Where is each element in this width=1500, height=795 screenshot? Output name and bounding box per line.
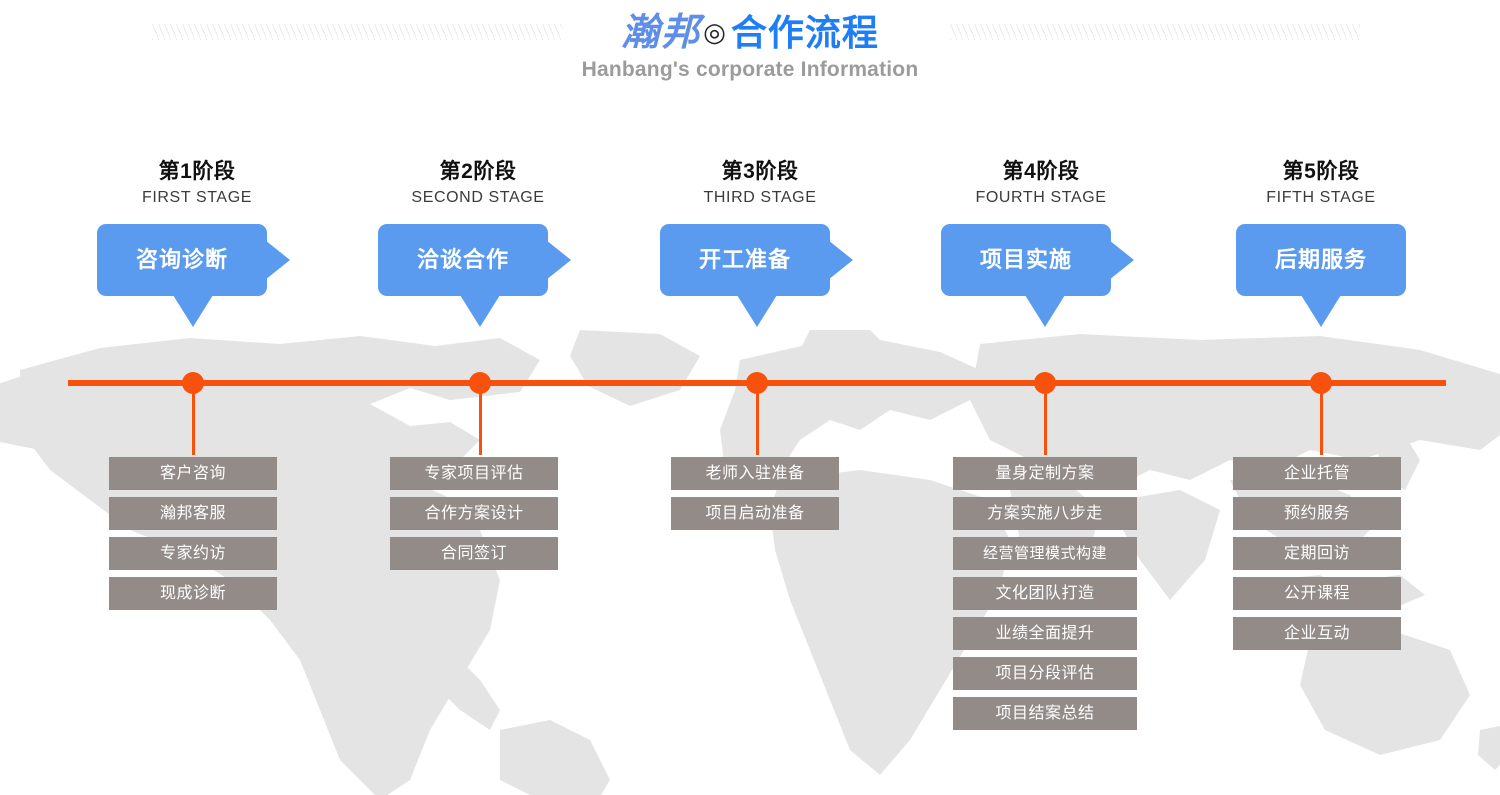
- stage-bubble-4[interactable]: 项目实施: [941, 224, 1111, 296]
- stage-bubble-label-3: 开工准备: [660, 224, 830, 296]
- stage-title-en-1: FIRST STAGE: [72, 186, 322, 210]
- stage-title-cn-2: 第2阶段: [353, 158, 603, 186]
- list-item[interactable]: 瀚邦客服: [109, 497, 277, 530]
- page-title-text: 合作流程: [731, 12, 879, 53]
- stage-bubble-label-5: 后期服务: [1236, 224, 1406, 296]
- bubble-tail-icon-2: [460, 295, 500, 327]
- list-item[interactable]: 合同签订: [390, 537, 558, 570]
- bubble-arrow-icon-3: [828, 240, 853, 280]
- brand-logo-icon: ◎: [703, 17, 727, 47]
- list-item[interactable]: 企业互动: [1233, 617, 1401, 650]
- stage-title-en-4: FOURTH STAGE: [916, 186, 1166, 210]
- bubble-tail-icon-3: [737, 295, 777, 327]
- page-subtitle: Hanbang's corporate Information: [0, 58, 1500, 82]
- list-item[interactable]: 老师入驻准备: [671, 457, 839, 490]
- list-item[interactable]: 企业托管: [1233, 457, 1401, 490]
- stage-title-en-3: THIRD STAGE: [635, 186, 885, 210]
- stage-bubble-label-2: 洽谈合作: [378, 224, 548, 296]
- stage-column-3: 第3阶段 THIRD STAGE 开工准备: [635, 158, 885, 334]
- bubble-arrow-icon-1: [265, 240, 290, 280]
- stage-column-1: 第1阶段 FIRST STAGE 咨询诊断: [72, 158, 322, 334]
- stage-title-en-2: SECOND STAGE: [353, 186, 603, 210]
- page-header: 瀚邦◎合作流程 Hanbang's corporate Information: [0, 8, 1500, 82]
- stage-title-cn-5: 第5阶段: [1196, 158, 1446, 186]
- list-item[interactable]: 方案实施八步走: [953, 497, 1137, 530]
- bubble-arrow-icon-4: [1109, 240, 1134, 280]
- list-item[interactable]: 公开课程: [1233, 577, 1401, 610]
- timeline-node-5[interactable]: [1310, 372, 1332, 394]
- hatch-decoration-right: [950, 24, 1360, 40]
- bubble-tail-icon-1: [173, 295, 213, 327]
- list-item[interactable]: 现成诊断: [109, 577, 277, 610]
- bubble-arrow-icon-2: [546, 240, 571, 280]
- list-item[interactable]: 项目启动准备: [671, 497, 839, 530]
- timeline-node-4[interactable]: [1034, 372, 1056, 394]
- timeline-node-1[interactable]: [182, 372, 204, 394]
- list-item[interactable]: 量身定制方案: [953, 457, 1137, 490]
- list-item[interactable]: 专家约访: [109, 537, 277, 570]
- list-item[interactable]: 业绩全面提升: [953, 617, 1137, 650]
- stage-item-list-4: 量身定制方案 方案实施八步走 经营管理模式构建 文化团队打造 业绩全面提升 项目…: [953, 457, 1137, 737]
- bubble-holder-3: 开工准备: [635, 224, 885, 334]
- infographic-page: 瀚邦◎合作流程 Hanbang's corporate Information …: [0, 0, 1500, 795]
- stage-title-cn-3: 第3阶段: [635, 158, 885, 186]
- stage-title-cn-4: 第4阶段: [916, 158, 1166, 186]
- stage-item-list-2: 专家项目评估 合作方案设计 合同签订: [390, 457, 558, 577]
- stage-bubble-label-4: 项目实施: [941, 224, 1111, 296]
- list-item[interactable]: 预约服务: [1233, 497, 1401, 530]
- list-item[interactable]: 客户咨询: [109, 457, 277, 490]
- hatch-decoration-left: [152, 24, 562, 40]
- stage-column-2: 第2阶段 SECOND STAGE 洽谈合作: [353, 158, 603, 334]
- list-item[interactable]: 文化团队打造: [953, 577, 1137, 610]
- bubble-holder-5: 后期服务: [1196, 224, 1446, 334]
- stage-item-list-5: 企业托管 预约服务 定期回访 公开课程 企业互动: [1233, 457, 1401, 657]
- stage-bubble-5[interactable]: 后期服务: [1236, 224, 1406, 296]
- stage-title-cn-1: 第1阶段: [72, 158, 322, 186]
- stage-bubble-2[interactable]: 洽谈合作: [378, 224, 548, 296]
- list-item[interactable]: 项目结案总结: [953, 697, 1137, 730]
- title-row: 瀚邦◎合作流程: [0, 8, 1500, 56]
- bubble-tail-icon-5: [1301, 295, 1341, 327]
- timeline-node-2[interactable]: [469, 372, 491, 394]
- bubble-tail-icon-4: [1025, 295, 1065, 327]
- brand-name: 瀚邦: [621, 12, 701, 54]
- timeline-node-3[interactable]: [746, 372, 768, 394]
- stage-bubble-3[interactable]: 开工准备: [660, 224, 830, 296]
- stage-item-list-3: 老师入驻准备 项目启动准备: [671, 457, 839, 537]
- page-title: 瀚邦◎合作流程: [607, 8, 893, 57]
- list-item[interactable]: 经营管理模式构建: [953, 537, 1137, 570]
- bubble-holder-4: 项目实施: [916, 224, 1166, 334]
- stage-title-en-5: FIFTH STAGE: [1196, 186, 1446, 210]
- stage-bubble-1[interactable]: 咨询诊断: [97, 224, 267, 296]
- stage-column-4: 第4阶段 FOURTH STAGE 项目实施: [916, 158, 1166, 334]
- stage-column-5: 第5阶段 FIFTH STAGE 后期服务: [1196, 158, 1446, 334]
- stage-bubble-label-1: 咨询诊断: [97, 224, 267, 296]
- list-item[interactable]: 定期回访: [1233, 537, 1401, 570]
- bubble-holder-1: 咨询诊断: [72, 224, 322, 334]
- bubble-holder-2: 洽谈合作: [353, 224, 603, 334]
- list-item[interactable]: 专家项目评估: [390, 457, 558, 490]
- stage-item-list-1: 客户咨询 瀚邦客服 专家约访 现成诊断: [109, 457, 277, 617]
- list-item[interactable]: 合作方案设计: [390, 497, 558, 530]
- list-item[interactable]: 项目分段评估: [953, 657, 1137, 690]
